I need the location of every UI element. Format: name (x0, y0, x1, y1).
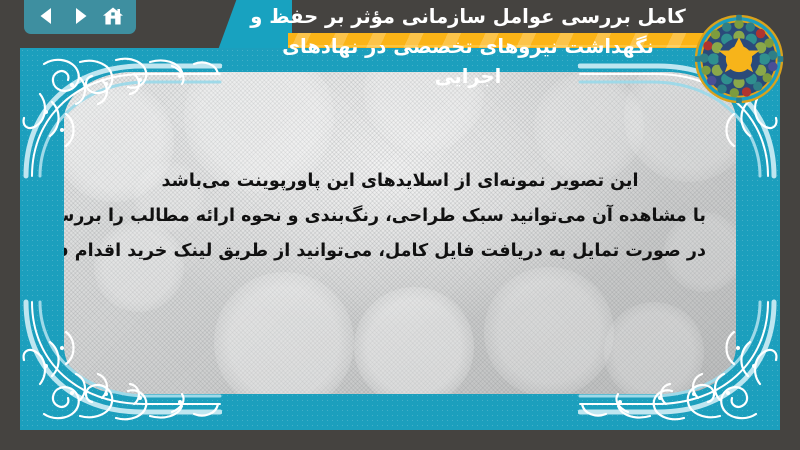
slide-body-line-3: در صورت تمایل به دریافت فایل کامل، می‌تو… (94, 234, 706, 269)
islamic-medallion-icon (692, 12, 786, 106)
slide-body-text: این تصویر نمونه‌ای از اسلایدهای این پاور… (64, 164, 736, 269)
slide-title-line-2: نگهداشت نیروهای تخصصی در نهادهای (208, 32, 728, 62)
triangle-left-icon (37, 6, 57, 26)
slide-body-line-1: این تصویر نمونه‌ای از اسلایدهای این پاور… (94, 164, 706, 199)
slide-title-line-1: کامل بررسی عوامل سازمانی مؤثر بر حفظ و (208, 2, 728, 32)
slide-title-line-3: اجرایی (208, 62, 728, 92)
slide-navigation-toolbar (24, 0, 136, 34)
slide-title: کامل بررسی عوامل سازمانی مؤثر بر حفظ و ن… (208, 2, 728, 92)
home-icon (102, 6, 124, 26)
slide-body-line-2: با مشاهده آن می‌توانید سبک طراحی، رنگ‌بن… (94, 199, 706, 234)
slide-body-panel: این تصویر نمونه‌ای از اسلایدهای این پاور… (64, 72, 736, 394)
triangle-right-icon (70, 6, 90, 26)
next-slide-button[interactable] (66, 4, 94, 28)
slide-content-frame: این تصویر نمونه‌ای از اسلایدهای این پاور… (20, 48, 780, 430)
previous-slide-button[interactable] (33, 4, 61, 28)
home-button[interactable] (99, 4, 127, 28)
slide-viewer: کامل بررسی عوامل سازمانی مؤثر بر حفظ و ن… (0, 0, 800, 450)
